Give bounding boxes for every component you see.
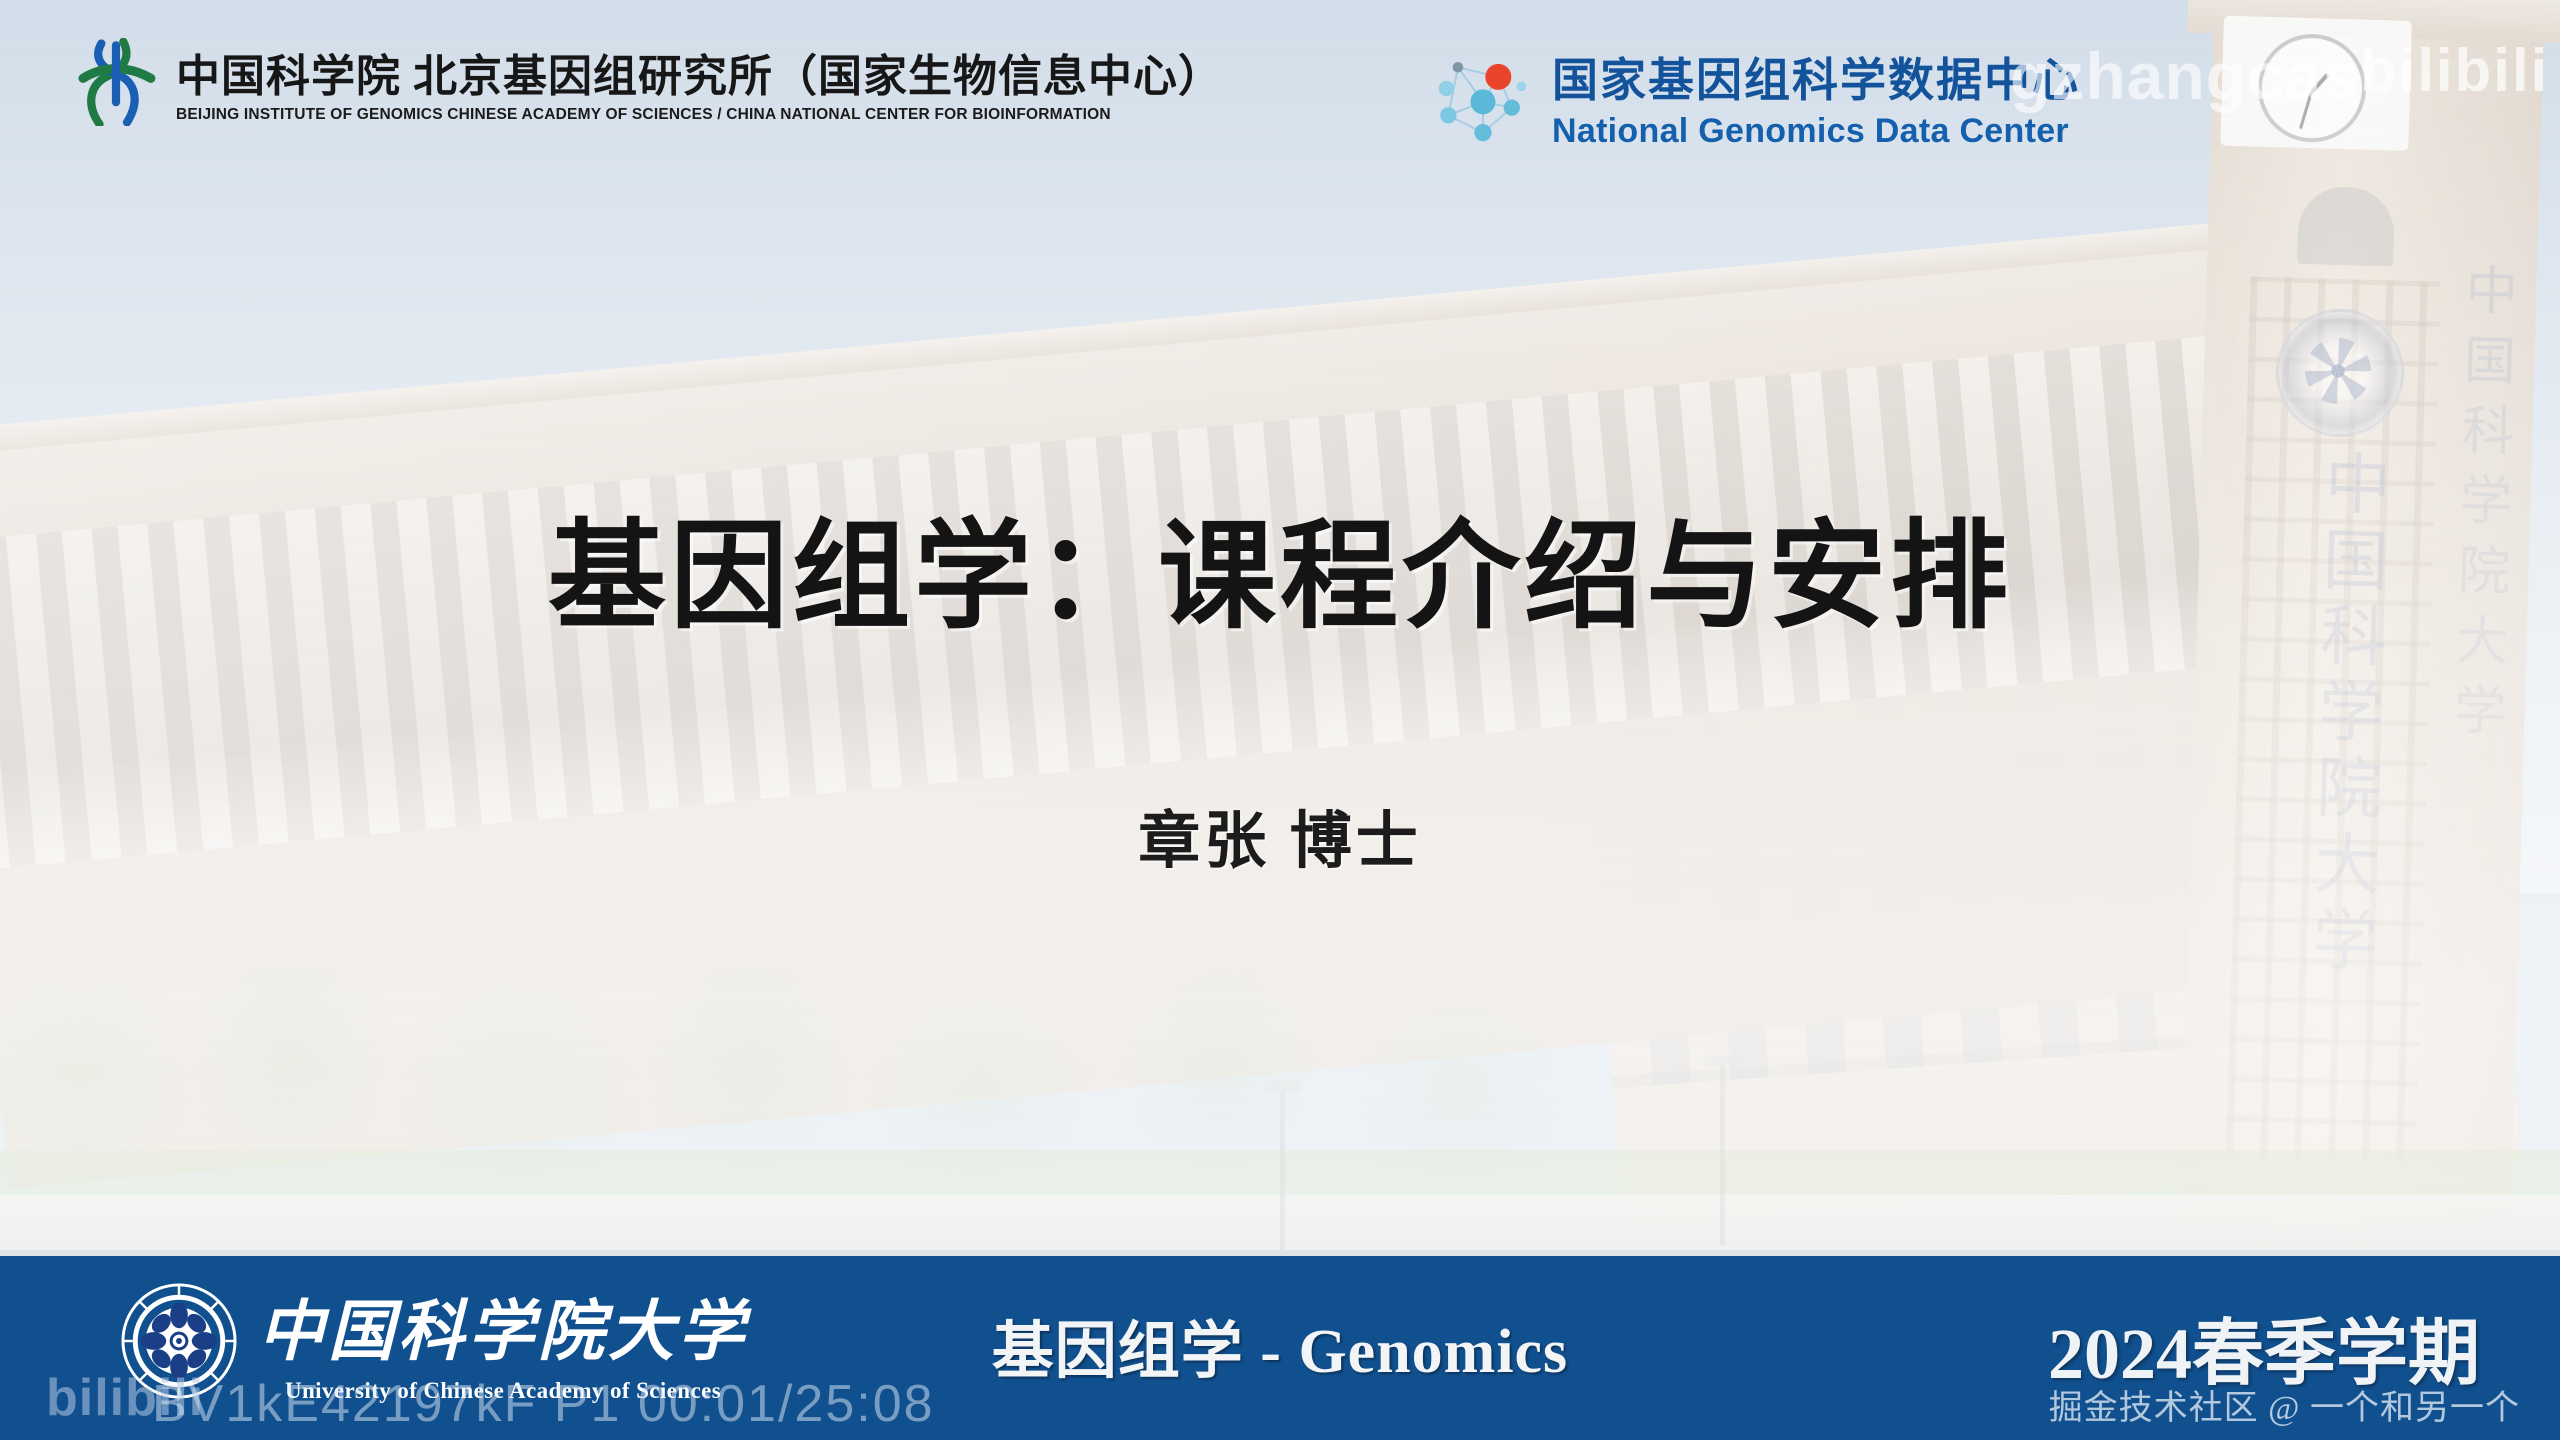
network-nodes-icon: [1428, 48, 1536, 148]
big-logo-cn: 中国科学院 北京基因组研究所（国家生物信息中心）: [176, 40, 1223, 104]
header-logo-band: 中国科学院 北京基因组研究所（国家生物信息中心） BEIJING INSTITU…: [0, 0, 2560, 190]
ngdc-logo-text: 国家基因组科学数据中心 National Genomics Data Cente…: [1552, 44, 2080, 151]
big-logo-en: BEIJING INSTITUTE OF GENOMICS CHINESE AC…: [176, 106, 1223, 124]
presenter-name: 章张 博士: [0, 790, 2560, 880]
dna-helix-icon: [70, 38, 162, 126]
background-photo: 中国科学院大学 中国科学院大学: [0, 0, 2560, 1440]
footer-bar: 中国科学院大学 University of Chinese Academy of…: [0, 1250, 2560, 1440]
atmospheric-haze: [0, 0, 2560, 1440]
ngdc-logo: 国家基因组科学数据中心 National Genomics Data Cente…: [1428, 44, 2080, 151]
slide-canvas: 中国科学院大学 中国科学院大学 中国科学院 北京基因组研究所（国家生物信息中心）…: [0, 0, 2560, 1440]
slide-title: 基因组学：课程介绍与安排: [0, 480, 2560, 651]
term-label: 2024春季学期: [2048, 1294, 2480, 1399]
ngdc-logo-en: National Genomics Data Center: [1552, 112, 2080, 151]
big-logo-text: 中国科学院 北京基因组研究所（国家生物信息中心） BEIJING INSTITU…: [176, 40, 1223, 124]
ngdc-logo-cn: 国家基因组科学数据中心: [1552, 44, 2080, 110]
big-cncb-logo: 中国科学院 北京基因组研究所（国家生物信息中心） BEIJING INSTITU…: [70, 38, 1223, 126]
